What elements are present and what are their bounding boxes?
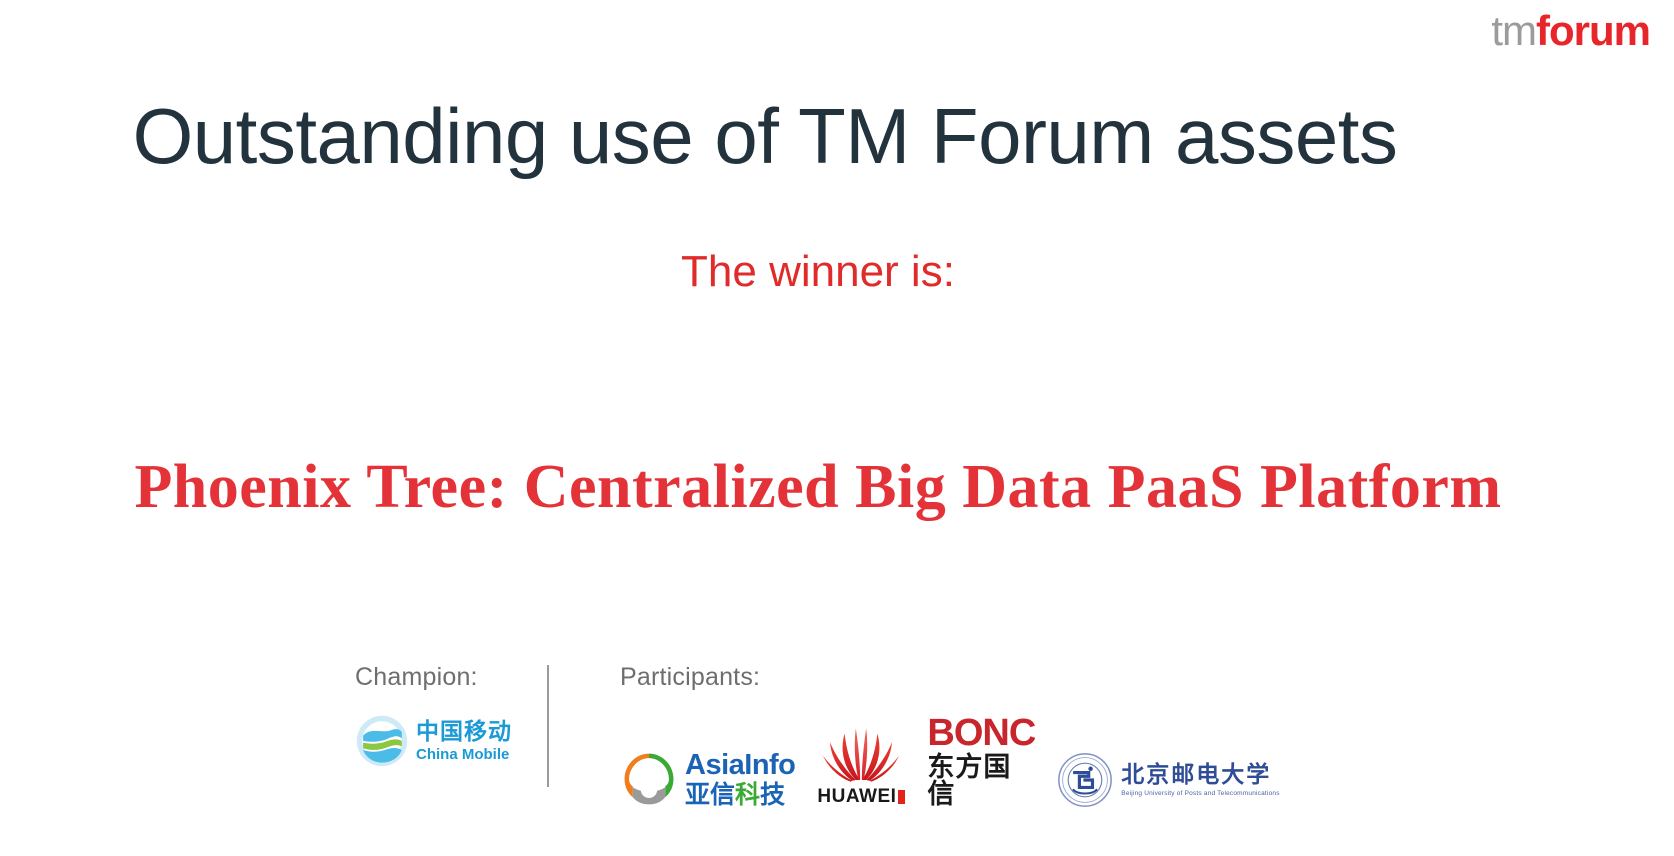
bupt-crest-icon [1057, 752, 1113, 808]
bonc-english: BONC [927, 714, 1035, 752]
champion-label: Champion: [355, 663, 512, 692]
bonc-chinese: 东方国信 [927, 754, 1035, 808]
bonc-logo: BONC 东方国信 [927, 714, 1035, 808]
credits-divider [547, 665, 549, 787]
page-title: Outstanding use of TM Forum assets [0, 96, 1530, 178]
participants-label: Participants: [620, 663, 1280, 692]
china-mobile-chinese: 中国移动 [416, 721, 512, 744]
asiainfo-wordmark: AsiaInfo 亚信科技 [685, 751, 795, 807]
asiainfo-english: AsiaInfo [685, 751, 795, 780]
china-mobile-english: China Mobile [416, 747, 512, 762]
participants-column: Participants: AsiaInfo 亚信科技 [620, 663, 1280, 808]
asiainfo-logo: AsiaInfo 亚信科技 [620, 750, 795, 808]
award-slide: tmforum Outstanding use of TM Forum asse… [0, 0, 1674, 856]
huawei-wordmark: HUAWEI [817, 786, 905, 808]
bupt-chinese: 北京邮电大学 [1121, 763, 1279, 786]
china-mobile-mark-icon [355, 714, 409, 768]
bupt-wordmark: 北京邮电大学 Beijing University of Posts and T… [1121, 763, 1279, 798]
huawei-mark-icon [818, 726, 904, 784]
asiainfo-chinese-green: 科 [735, 780, 760, 809]
tmforum-logo-forum: forum [1536, 7, 1650, 54]
slide-subtitle: The winner is: [0, 248, 1636, 296]
winner-name: Phoenix Tree: Centralized Big Data PaaS … [0, 448, 1636, 527]
china-mobile-logo: 中国移动 China Mobile [355, 714, 512, 768]
participants-logo-row: AsiaInfo 亚信科技 [620, 714, 1280, 808]
asiainfo-chinese-part2: 技 [760, 780, 785, 809]
asiainfo-chinese-part1: 亚信 [685, 780, 735, 809]
credits-block: Champion: 中国移动 China Mobile [355, 663, 1255, 793]
champion-column: Champion: 中国移动 China Mobile [355, 663, 512, 768]
bupt-english: Beijing University of Posts and Telecomm… [1121, 791, 1279, 797]
asiainfo-chinese: 亚信科技 [685, 782, 795, 807]
tmforum-logo-tm: tm [1491, 7, 1536, 54]
huawei-logo: HUAWEI [817, 726, 905, 808]
tmforum-logo: tmforum [1491, 10, 1650, 52]
china-mobile-wordmark: 中国移动 China Mobile [416, 721, 512, 762]
huawei-accent-square-icon [898, 790, 905, 804]
bupt-logo: 北京邮电大学 Beijing University of Posts and T… [1057, 752, 1279, 808]
asiainfo-mark-icon [620, 750, 678, 808]
champion-logo-row: 中国移动 China Mobile [355, 714, 512, 768]
huawei-english: HUAWEI [817, 786, 896, 808]
